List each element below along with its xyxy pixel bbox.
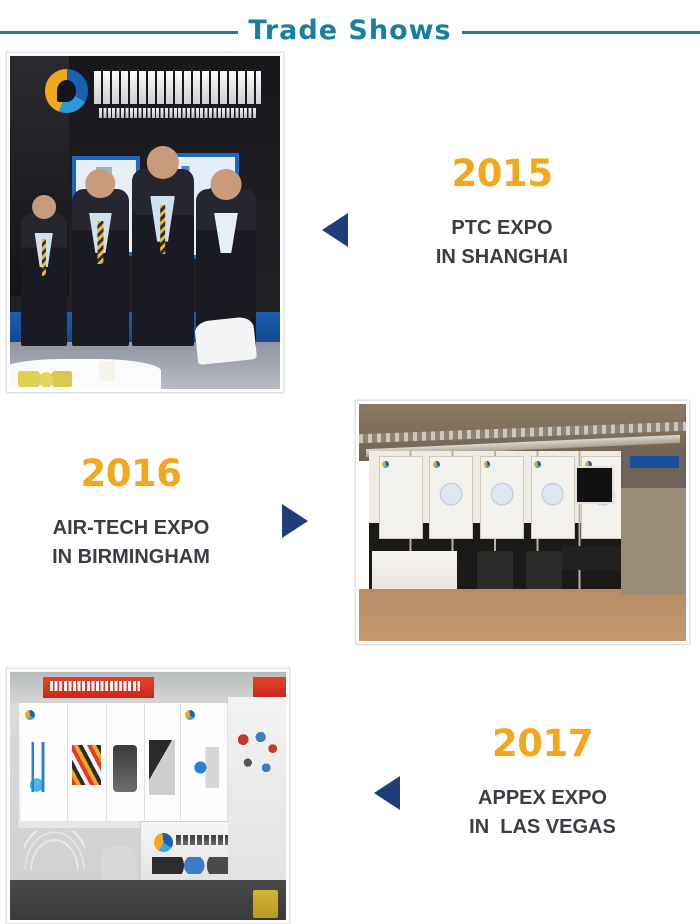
booth-tagline-text: [99, 108, 256, 119]
person-head: [32, 195, 56, 219]
person-tie: [42, 239, 46, 276]
xhnotion-logo-icon: [484, 461, 491, 468]
caption-2015: 2015 PTC EXPO IN SHANGHAI: [352, 155, 652, 272]
caption-line2-2016: IN BIRMINGHAM: [0, 543, 262, 572]
year-label-2016: 2016: [0, 455, 262, 492]
display-panel: [107, 704, 146, 823]
neighbour-red-banner: [253, 677, 286, 697]
page-header: Trade Shows: [0, 12, 700, 52]
xhnotion-logo-icon: [433, 461, 440, 468]
panel-product-display: [149, 740, 175, 795]
xhnotion-logo-icon: [185, 710, 195, 720]
panel-product-display: [72, 745, 101, 785]
booth-display-screen: [575, 466, 614, 504]
xhnotion-logo-icon: [45, 69, 88, 112]
booth-brand-text: [94, 71, 261, 104]
year-label-2015: 2015: [352, 155, 652, 192]
white-chair: [194, 316, 258, 365]
page-title: Trade Shows: [248, 17, 451, 47]
person-figure: [132, 169, 194, 345]
fruit-plate: [18, 371, 72, 388]
booth-poster: [531, 456, 575, 539]
hall-aisle-sign: [630, 456, 679, 468]
person-tie: [160, 205, 166, 254]
display-panel: [181, 704, 228, 823]
person-figure: [72, 189, 129, 346]
caption-line1-2016: AIR-TECH EXPO: [0, 514, 262, 543]
trade-shows-page: Trade Shows: [0, 0, 700, 922]
caption-2016: 2016 AIR-TECH EXPO IN BIRMINGHAM: [0, 455, 262, 572]
paper-cup: [99, 361, 115, 381]
photo-2016-air-tech-expo-birmingham: [355, 400, 690, 645]
booth-poster: [379, 456, 423, 539]
xhnotion-logo-icon: [382, 461, 389, 468]
xhnotion-logo-icon: [534, 461, 541, 468]
person-head: [86, 169, 115, 198]
poster-product-circle: [491, 483, 514, 506]
caption-line1-2015: PTC EXPO: [352, 214, 652, 243]
caption-line2-2015: IN SHANGHAI: [352, 243, 652, 272]
person-head: [146, 146, 178, 178]
triangle-right-icon: [282, 504, 308, 538]
poster-product-circle: [541, 483, 564, 506]
caption-line2-2017: IN LAS VEGAS: [400, 813, 685, 842]
person-shirt: [214, 213, 238, 254]
triangle-left-icon: [322, 213, 348, 247]
person-tie: [98, 221, 103, 265]
person-figure: [21, 213, 67, 346]
panel-product-display: [27, 742, 59, 792]
carpet-floor: [10, 880, 286, 920]
panel-product-display: [188, 747, 219, 787]
hall-floor: [359, 589, 686, 641]
display-panel: [68, 704, 107, 823]
person-head: [211, 169, 242, 200]
header-rule-left: [0, 31, 238, 34]
banner-company-text: [50, 681, 141, 691]
triangle-left-icon: [374, 776, 400, 810]
photo-2017-appex-expo-las-vegas: [6, 668, 290, 924]
booth-right-wall: [228, 697, 286, 885]
waste-bin: [253, 890, 278, 917]
panel-product-display: [113, 745, 138, 793]
hall-background-right: [621, 447, 686, 594]
xhnotion-logo-icon: [154, 833, 174, 853]
display-panel: [145, 704, 181, 823]
caption-2017: 2017 APPEX EXPO IN LAS VEGAS: [400, 725, 685, 842]
photo-2017-content: [10, 672, 286, 920]
coiled-hose-display: [24, 831, 85, 871]
photo-2015-ptc-expo-shanghai: [6, 52, 284, 393]
display-panel: [21, 704, 68, 823]
year-label-2017: 2017: [400, 725, 685, 762]
booth-poster: [429, 456, 473, 539]
xhnotion-logo-icon: [25, 710, 35, 720]
right-wall-product-display: [234, 723, 280, 787]
photo-2016-content: [359, 404, 686, 641]
photo-2015-content: [10, 56, 280, 389]
poster-product-circle: [440, 483, 463, 506]
booth-poster: [480, 456, 524, 539]
caption-line1-2017: APPEX EXPO: [400, 784, 685, 813]
red-company-banner: [43, 677, 153, 698]
header-rule-right: [462, 31, 700, 34]
